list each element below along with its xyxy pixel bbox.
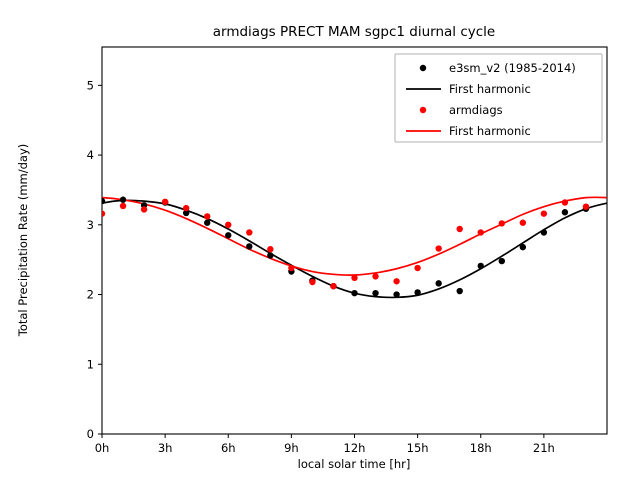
chart-title: armdiags PRECT MAM sgpc1 diurnal cycle	[213, 24, 496, 40]
data-point	[204, 213, 210, 219]
x-tick-label: 3h	[158, 441, 173, 455]
y-tick-label: 1	[87, 357, 94, 371]
x-axis-label: local solar time [hr]	[298, 457, 411, 471]
x-axis-ticks: 0h3h6h9h12h15h18h21h	[95, 434, 555, 455]
data-point	[204, 220, 210, 226]
data-point	[330, 283, 336, 289]
legend-entry-label: First harmonic	[449, 124, 531, 138]
harmonic-curves	[102, 197, 607, 297]
data-point	[372, 273, 378, 279]
data-point	[435, 280, 441, 286]
x-tick-label: 6h	[221, 441, 236, 455]
data-point	[393, 278, 399, 284]
data-point	[499, 220, 505, 226]
data-point	[267, 252, 273, 258]
x-tick-label: 0h	[95, 441, 110, 455]
data-point	[478, 263, 484, 269]
legend-marker-dot	[420, 65, 426, 71]
data-point	[246, 229, 252, 235]
data-point	[162, 199, 168, 205]
data-point	[414, 289, 420, 295]
x-tick-label: 12h	[344, 441, 366, 455]
legend-entry-label: armdiags	[449, 103, 503, 117]
legend-entry-label: e3sm_v2 (1985-2014)	[449, 61, 576, 75]
data-point	[562, 209, 568, 215]
x-tick-label: 21h	[533, 441, 555, 455]
data-point	[457, 288, 463, 294]
data-point	[120, 197, 126, 203]
data-point	[414, 265, 420, 271]
legend-entry-label: First harmonic	[449, 82, 531, 96]
data-point	[225, 222, 231, 228]
y-tick-label: 5	[87, 78, 94, 92]
data-point	[309, 279, 315, 285]
data-point	[435, 245, 441, 251]
y-tick-label: 4	[87, 148, 94, 162]
y-tick-label: 2	[87, 288, 94, 302]
data-point	[520, 220, 526, 226]
x-tick-label: 9h	[284, 441, 299, 455]
data-point	[541, 210, 547, 216]
data-point	[372, 290, 378, 296]
data-point	[141, 206, 147, 212]
harmonic-curve-3	[102, 197, 607, 275]
data-point	[541, 229, 547, 235]
data-point	[120, 203, 126, 209]
chart-figure: armdiags PRECT MAM sgpc1 diurnal cycle 0…	[0, 0, 640, 480]
data-point	[267, 246, 273, 252]
data-point	[183, 205, 189, 211]
y-tick-label: 3	[87, 218, 94, 232]
data-point	[457, 226, 463, 232]
data-point	[99, 210, 105, 216]
x-tick-label: 18h	[470, 441, 492, 455]
data-point	[583, 203, 589, 209]
data-point	[351, 290, 357, 296]
data-point	[562, 199, 568, 205]
data-point	[246, 243, 252, 249]
y-axis-label: Total Precipitation Rate (mm/day)	[16, 144, 30, 337]
data-point	[393, 291, 399, 297]
data-point	[288, 265, 294, 271]
data-point	[351, 275, 357, 281]
data-point	[99, 198, 105, 204]
data-point	[478, 229, 484, 235]
y-axis-ticks: 012345	[87, 78, 102, 441]
chart-svg: armdiags PRECT MAM sgpc1 diurnal cycle 0…	[0, 0, 640, 480]
data-point	[225, 232, 231, 238]
data-point	[520, 244, 526, 250]
x-tick-label: 15h	[407, 441, 429, 455]
chart-legend: e3sm_v2 (1985-2014)First harmonicarmdiag…	[395, 54, 602, 142]
data-point	[499, 258, 505, 264]
legend-marker-dot	[420, 107, 426, 113]
y-tick-label: 0	[87, 427, 94, 441]
